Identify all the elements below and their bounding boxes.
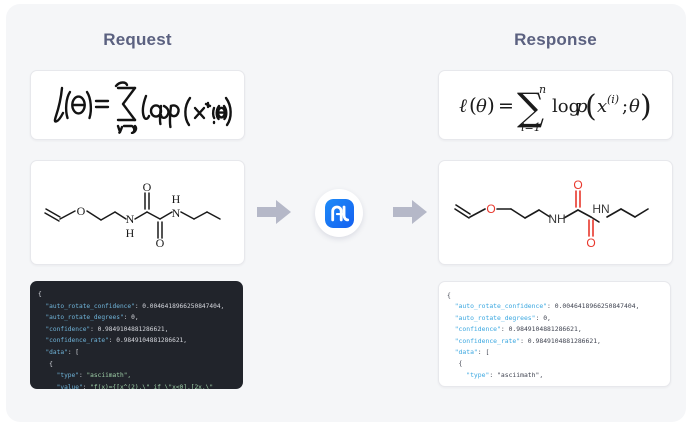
code-token: : [: [68, 349, 79, 356]
code-line: "auto_rotate_confidence": 0.004641896625…: [439, 301, 670, 312]
code-token: : [: [478, 348, 490, 356]
code-line: "confidence_rate": 0.9849104881286621,: [439, 336, 670, 347]
code-token: "f(x)={[x^(2),\" if \"x<0],[2x,\": [90, 384, 213, 389]
code-token: : 0.9849104881286621,: [501, 325, 582, 333]
code-token: : 0.0046418966250847404,: [547, 302, 639, 310]
code-token: : 0.9849104881286621,: [109, 337, 187, 344]
arrow-right-icon: [257, 200, 291, 224]
request-formula-card: [30, 70, 245, 140]
code-token: : 0.9849104881286621,: [520, 337, 601, 345]
code-token: "auto_rotate_degrees": [447, 314, 536, 322]
code-line: {: [439, 358, 670, 369]
code-line: "confidence": 0.9849104881286621,: [439, 324, 670, 335]
atom-label-O3: O: [156, 236, 165, 250]
code-line: {: [439, 290, 670, 301]
code-line: "value": "f(x)={[x^(2),\" if \"x<0],[2x,…: [30, 382, 243, 389]
svg-text:(i): (i): [607, 93, 619, 106]
request-json-block[interactable]: { "auto_rotate_confidence": 0.0046418966…: [30, 281, 243, 389]
svg-text:=: =: [498, 95, 514, 117]
handwritten-equation-svg: [40, 76, 236, 134]
rendered-formula-image: ℓ ( θ ) = n ∑ i=1 log p ( x (i) ;: [439, 71, 672, 139]
response-molecule-card: O O O NH HN: [438, 160, 673, 265]
code-token: "type": [38, 372, 79, 379]
svg-text:): ): [640, 89, 652, 124]
svg-text:θ: θ: [629, 96, 640, 117]
comparison-panel: Request Response: [6, 4, 686, 422]
code-token: "confidence_rate": [38, 337, 109, 344]
rendered-equation-svg: ℓ ( θ ) = n ∑ i=1 log p ( x (i) ;: [451, 76, 661, 134]
atom-label-O: O: [77, 204, 86, 218]
svg-text:x: x: [597, 96, 607, 117]
code-line: "confidence_rate": 0.9849104881286621,: [30, 335, 243, 347]
atom-label-H2: H: [172, 192, 181, 206]
atom-label-O: O: [486, 202, 495, 216]
code-line: {: [30, 359, 243, 371]
code-line: "type": "asciimath",: [30, 370, 243, 382]
code-token: "type": [447, 371, 489, 379]
svg-text:θ: θ: [476, 96, 487, 117]
atom-label-H: H: [126, 226, 135, 240]
request-molecule-card: O N H N H O O: [30, 160, 245, 265]
code-line: "auto_rotate_confidence": 0.004641896625…: [30, 301, 243, 313]
code-token: "asciimath",: [86, 372, 131, 379]
atom-label-N: N: [126, 212, 135, 226]
code-token: : 0,: [536, 314, 551, 322]
code-token: "confidence_rate": [447, 337, 520, 345]
code-token: : 0.0046418966250847404,: [135, 303, 224, 310]
handwritten-molecule-image: O N H N H O O: [31, 161, 244, 264]
atom-label-N2: N: [172, 206, 181, 220]
column-title-request: Request: [30, 30, 245, 50]
svg-text:): ): [487, 93, 495, 117]
code-token: {: [38, 361, 53, 368]
code-line: "auto_rotate_degrees": 0,: [439, 313, 670, 324]
code-token: {: [447, 291, 451, 299]
column-title-response: Response: [438, 30, 673, 50]
response-formula-card: ℓ ( θ ) = n ∑ i=1 log p ( x (i) ;: [438, 70, 673, 140]
code-line: "data": [: [439, 347, 670, 358]
code-token: "value": [38, 384, 83, 389]
svg-text:;: ;: [622, 96, 628, 117]
atom-label-HN: HN: [592, 202, 609, 216]
molecule-skeletal-svg: O N H N H O O: [31, 161, 244, 264]
arrow-right-icon-2: [393, 200, 427, 224]
code-token: : 0.9849104881286621,: [90, 326, 168, 333]
code-line: {: [30, 289, 243, 301]
code-token: {: [447, 359, 462, 367]
code-token: "data": [447, 348, 478, 356]
rendered-molecule-image: O O O NH HN: [439, 161, 672, 264]
code-token: : 0,: [124, 314, 139, 321]
svg-text:(: (: [585, 89, 597, 124]
code-line: "type": "asciimath",: [439, 370, 670, 381]
svg-text:i=1: i=1: [521, 121, 541, 134]
code-token: :: [489, 371, 497, 379]
code-token: "auto_rotate_degrees": [38, 314, 124, 321]
code-token: "auto_rotate_confidence": [447, 302, 547, 310]
svg-text:ℓ: ℓ: [459, 95, 467, 117]
code-line: "data": [: [30, 347, 243, 359]
atom-label-O2: O: [143, 180, 152, 194]
screenshot-root: Request Response: [0, 0, 692, 426]
code-line: "auto_rotate_degrees": 0,: [30, 312, 243, 324]
code-token: "asciimath",: [497, 371, 543, 379]
atom-label-NH: NH: [548, 212, 565, 226]
code-token: "confidence": [38, 326, 90, 333]
code-token: {: [38, 291, 42, 298]
code-line: "confidence": 0.9849104881286621,: [30, 324, 243, 336]
molecule-rendered-svg: O O O NH HN: [439, 161, 672, 264]
code-token: "data": [38, 349, 68, 356]
code-token: "auto_rotate_confidence": [38, 303, 135, 310]
mathpix-logo-badge: [315, 189, 363, 237]
atom-label-O3: O: [586, 236, 595, 250]
handwritten-formula-image: [31, 71, 244, 139]
response-json-block[interactable]: { "auto_rotate_confidence": 0.0046418966…: [438, 281, 671, 387]
atom-label-O2: O: [573, 178, 582, 192]
mathpix-logo-icon: [325, 199, 354, 228]
code-token: "confidence": [447, 325, 501, 333]
